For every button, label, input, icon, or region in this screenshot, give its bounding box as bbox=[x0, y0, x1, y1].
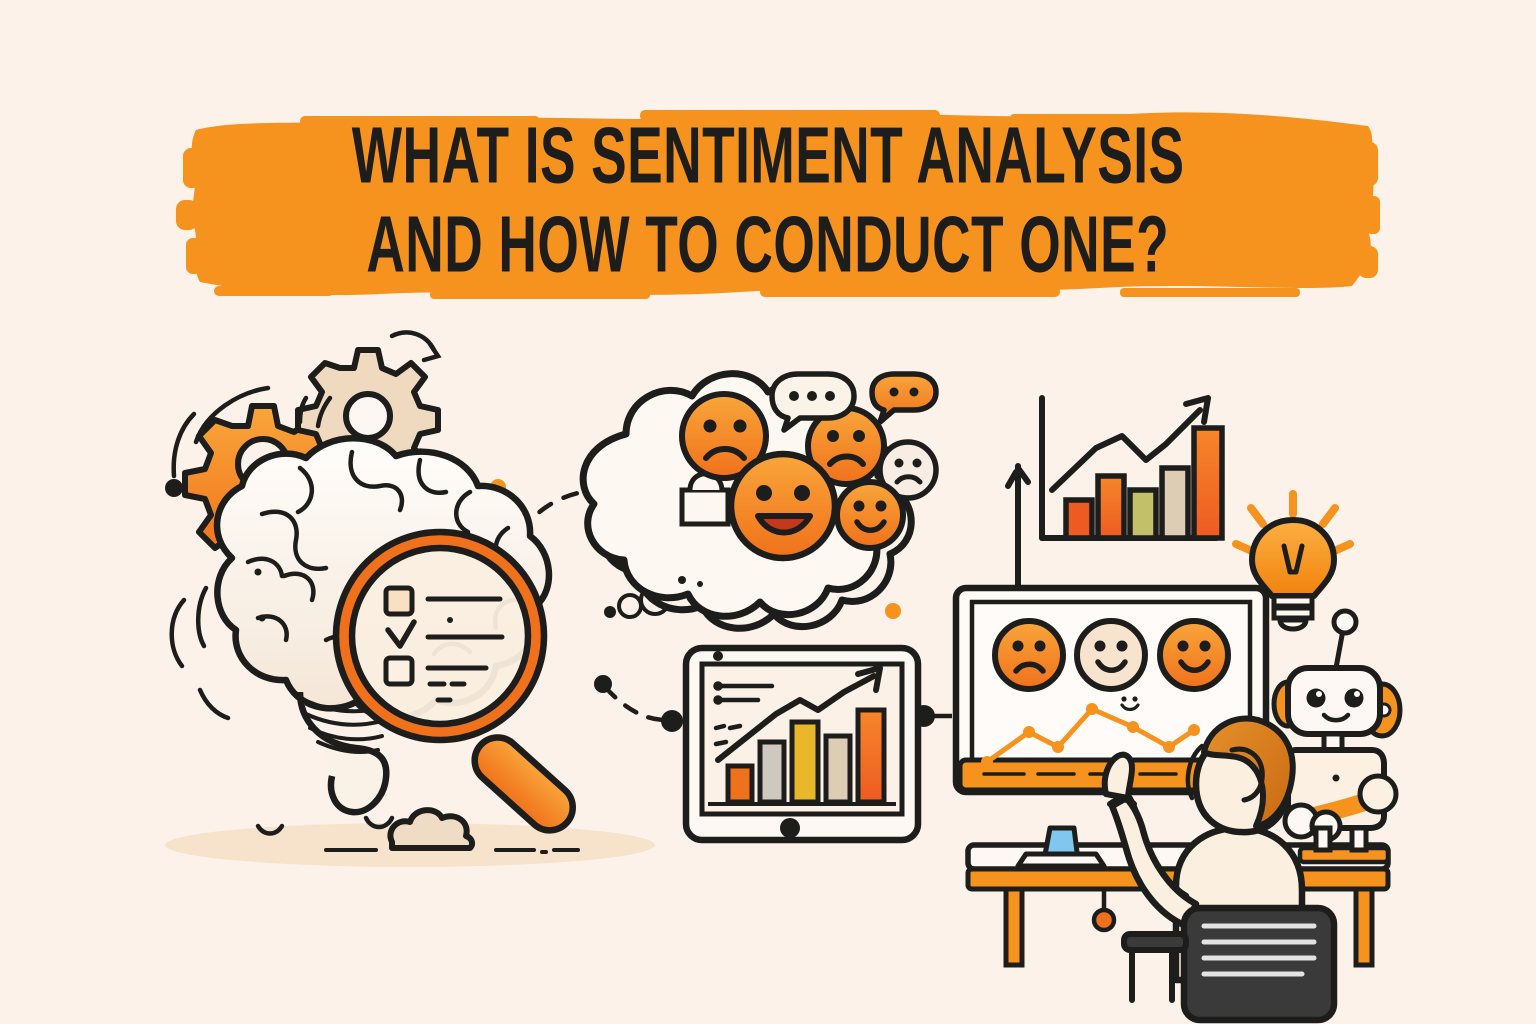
tablet-bar-chart bbox=[686, 648, 918, 840]
desk-leg-right bbox=[1356, 889, 1372, 965]
robot-shoulder-joint bbox=[1360, 776, 1396, 812]
tablet-bar-2 bbox=[760, 742, 784, 802]
tablet-bar-3 bbox=[792, 722, 818, 802]
thought-cloud bbox=[583, 374, 936, 629]
robot-platform bbox=[1300, 848, 1388, 862]
connector-cloud-to-tablet bbox=[606, 688, 666, 720]
lightbulb-glass bbox=[1252, 520, 1334, 596]
tablet-bar-1 bbox=[728, 766, 752, 802]
checklist-dot-1 bbox=[447, 617, 453, 623]
checklist-box-1 bbox=[386, 588, 412, 614]
tablet-bar-5 bbox=[858, 710, 884, 802]
person-hand bbox=[1105, 755, 1132, 798]
robot-eye-right bbox=[1345, 689, 1364, 708]
monitor-face-negative bbox=[995, 621, 1063, 689]
connector-dot-tablet-left bbox=[661, 710, 683, 732]
top-bar-1 bbox=[1066, 500, 1092, 538]
lightbulb-base bbox=[1274, 596, 1312, 629]
robot-eye-left bbox=[1307, 689, 1326, 708]
top-bar-5 bbox=[1194, 428, 1222, 538]
brain-decor-arc-2 bbox=[366, 818, 392, 827]
robot-chest-dot bbox=[1333, 775, 1340, 782]
robot-antenna-tip bbox=[1334, 611, 1356, 633]
tablet-bar-4 bbox=[826, 736, 850, 802]
decor-dot-orange-2 bbox=[885, 603, 901, 619]
title-banner: WHAT IS SENTIMENT ANALYSIS AND HOW TO CO… bbox=[0, 96, 1536, 306]
title-line-1: WHAT IS SENTIMENT ANALYSIS bbox=[352, 116, 1185, 197]
bar-chart-top-bars bbox=[1066, 428, 1222, 538]
robot-antenna bbox=[1336, 630, 1343, 668]
top-bar-3 bbox=[1130, 490, 1156, 538]
cloud-face-happy-large bbox=[731, 454, 835, 558]
cloud-face-happy-small bbox=[837, 482, 903, 548]
robot-head bbox=[1288, 668, 1380, 734]
tablet-home-button bbox=[780, 818, 800, 838]
desk-cable-knob bbox=[1094, 910, 1114, 930]
monitor-face-neutral bbox=[1077, 621, 1145, 689]
title-text-block: WHAT IS SENTIMENT ANALYSIS AND HOW TO CO… bbox=[0, 96, 1536, 306]
office-chair bbox=[1124, 908, 1334, 1020]
magnifier-handle bbox=[465, 728, 582, 840]
decor-dot-black-left bbox=[165, 479, 183, 497]
top-bar-4 bbox=[1162, 468, 1188, 538]
checklist-box-3 bbox=[386, 658, 412, 684]
tablet-camera-dot bbox=[713, 651, 723, 661]
ground-cloud bbox=[390, 810, 472, 848]
desk-leg-left bbox=[1006, 889, 1022, 965]
scene-illustration bbox=[0, 300, 1536, 1024]
monitor-face-positive bbox=[1160, 621, 1228, 689]
top-bar-2 bbox=[1098, 476, 1124, 538]
title-line-2: AND HOW TO CONDUCT ONE? bbox=[367, 205, 1170, 286]
connector-dot-cloud-bottom bbox=[594, 675, 612, 693]
illustration-canvas: WHAT IS SENTIMENT ANALYSIS AND HOW TO CO… bbox=[0, 0, 1536, 1024]
speech-bubble-orange bbox=[872, 374, 936, 422]
